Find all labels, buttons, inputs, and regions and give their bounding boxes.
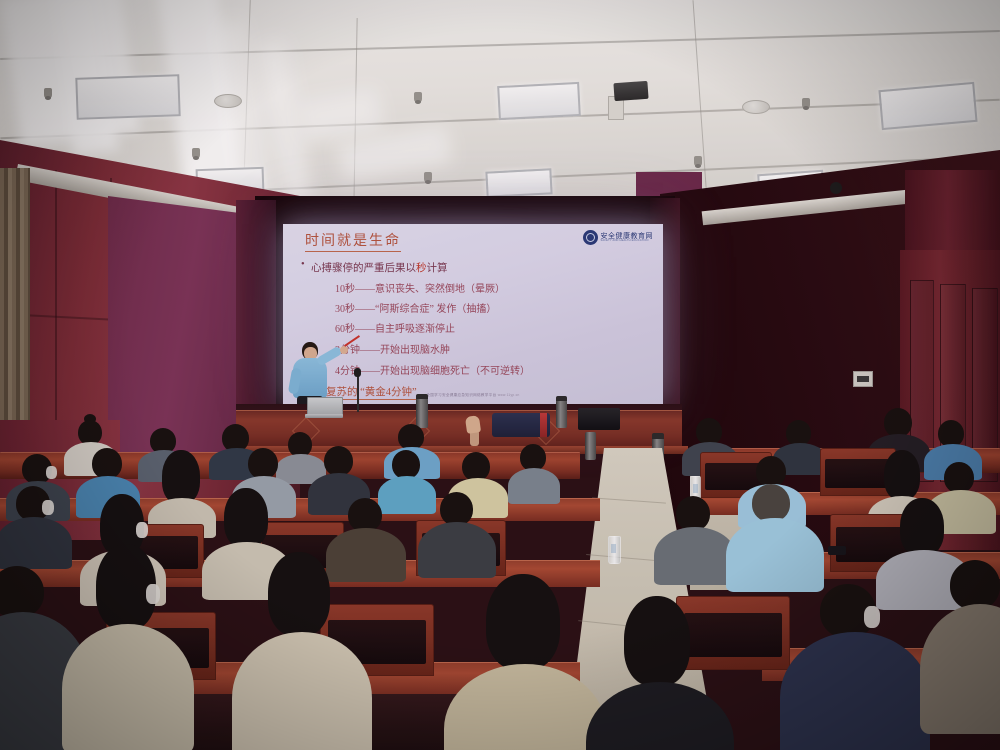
sprinkler-icon bbox=[414, 92, 422, 103]
presenter-hand bbox=[340, 346, 348, 354]
ceiling-speaker-icon bbox=[214, 94, 242, 108]
sprinkler-icon bbox=[802, 98, 810, 109]
ceiling-light-panel bbox=[497, 82, 581, 120]
ceiling-dome-camera-icon bbox=[830, 182, 842, 194]
slide-title: 时间就是生命 bbox=[305, 230, 401, 252]
flask-cap bbox=[556, 396, 567, 401]
slide-line: 10秒——意识丧失、突然倒地（晕厥） bbox=[335, 280, 505, 295]
bullet-suffix: 计算 bbox=[427, 263, 448, 274]
slide-bullet-heading: 心搏骤停的严重后果以秒计算 bbox=[311, 260, 448, 275]
gooseneck-microphone bbox=[357, 372, 359, 412]
bag-strap bbox=[540, 413, 547, 437]
vacuum-flask bbox=[585, 432, 596, 460]
water-bottle bbox=[608, 536, 621, 564]
slide-footer-url: www.11yp.cn bbox=[498, 393, 520, 397]
ceiling-light-panel bbox=[878, 82, 977, 130]
slide-line: 4分钟——开始出现脑细胞死亡（不可逆转） bbox=[335, 362, 530, 377]
microphone-head bbox=[354, 368, 361, 377]
projection-screen: 时间就是生命 安全健康教育网 SAFETY AND HEALTH EDUCATI… bbox=[283, 224, 663, 404]
sprinkler-icon bbox=[44, 88, 52, 99]
chair-back bbox=[676, 596, 790, 670]
flask-cap bbox=[416, 394, 428, 399]
ceiling-speaker-icon bbox=[742, 100, 770, 114]
sprinkler-icon bbox=[192, 148, 200, 159]
flask-cap bbox=[652, 433, 664, 439]
wall-control-panel[interactable] bbox=[853, 371, 873, 387]
vacuum-flask bbox=[416, 398, 428, 428]
ceiling-light-panel bbox=[485, 168, 552, 197]
slide-logo: 安全健康教育网 SAFETY AND HEALTH EDUCATION bbox=[583, 230, 654, 245]
sprinkler-icon bbox=[424, 172, 432, 183]
vacuum-flask bbox=[556, 400, 567, 428]
equipment-box bbox=[578, 408, 620, 430]
slide-line: 3分钟——开始出现脑水肿 bbox=[335, 341, 450, 356]
slide-line: 30秒——“阿斯综合症” 发作（抽搐） bbox=[335, 300, 496, 315]
circular-emblem-icon bbox=[583, 230, 598, 245]
silver-laptop bbox=[305, 397, 343, 419]
slide-footer-cn: 全国学习安全健康应急知识网络教学平台 bbox=[426, 393, 496, 397]
front-wall-left-edge bbox=[236, 200, 276, 430]
sprinkler-icon bbox=[694, 156, 702, 167]
lecture-hall-photo: 时间就是生命 安全健康教育网 SAFETY AND HEALTH EDUCATI… bbox=[0, 0, 1000, 750]
ceiling-light-panel bbox=[75, 74, 180, 120]
slide-line: 60秒——自主呼吸逐渐停止 bbox=[335, 320, 455, 335]
audience-raised-hand bbox=[465, 415, 481, 434]
bullet-prefix: 心搏骤停的严重后果以 bbox=[311, 263, 416, 274]
window-curtain bbox=[0, 168, 30, 458]
smartphone bbox=[828, 546, 846, 555]
projector-icon bbox=[613, 81, 648, 101]
bullet-highlight: 秒 bbox=[416, 263, 427, 274]
logo-en-text: SAFETY AND HEALTH EDUCATION bbox=[601, 240, 654, 243]
